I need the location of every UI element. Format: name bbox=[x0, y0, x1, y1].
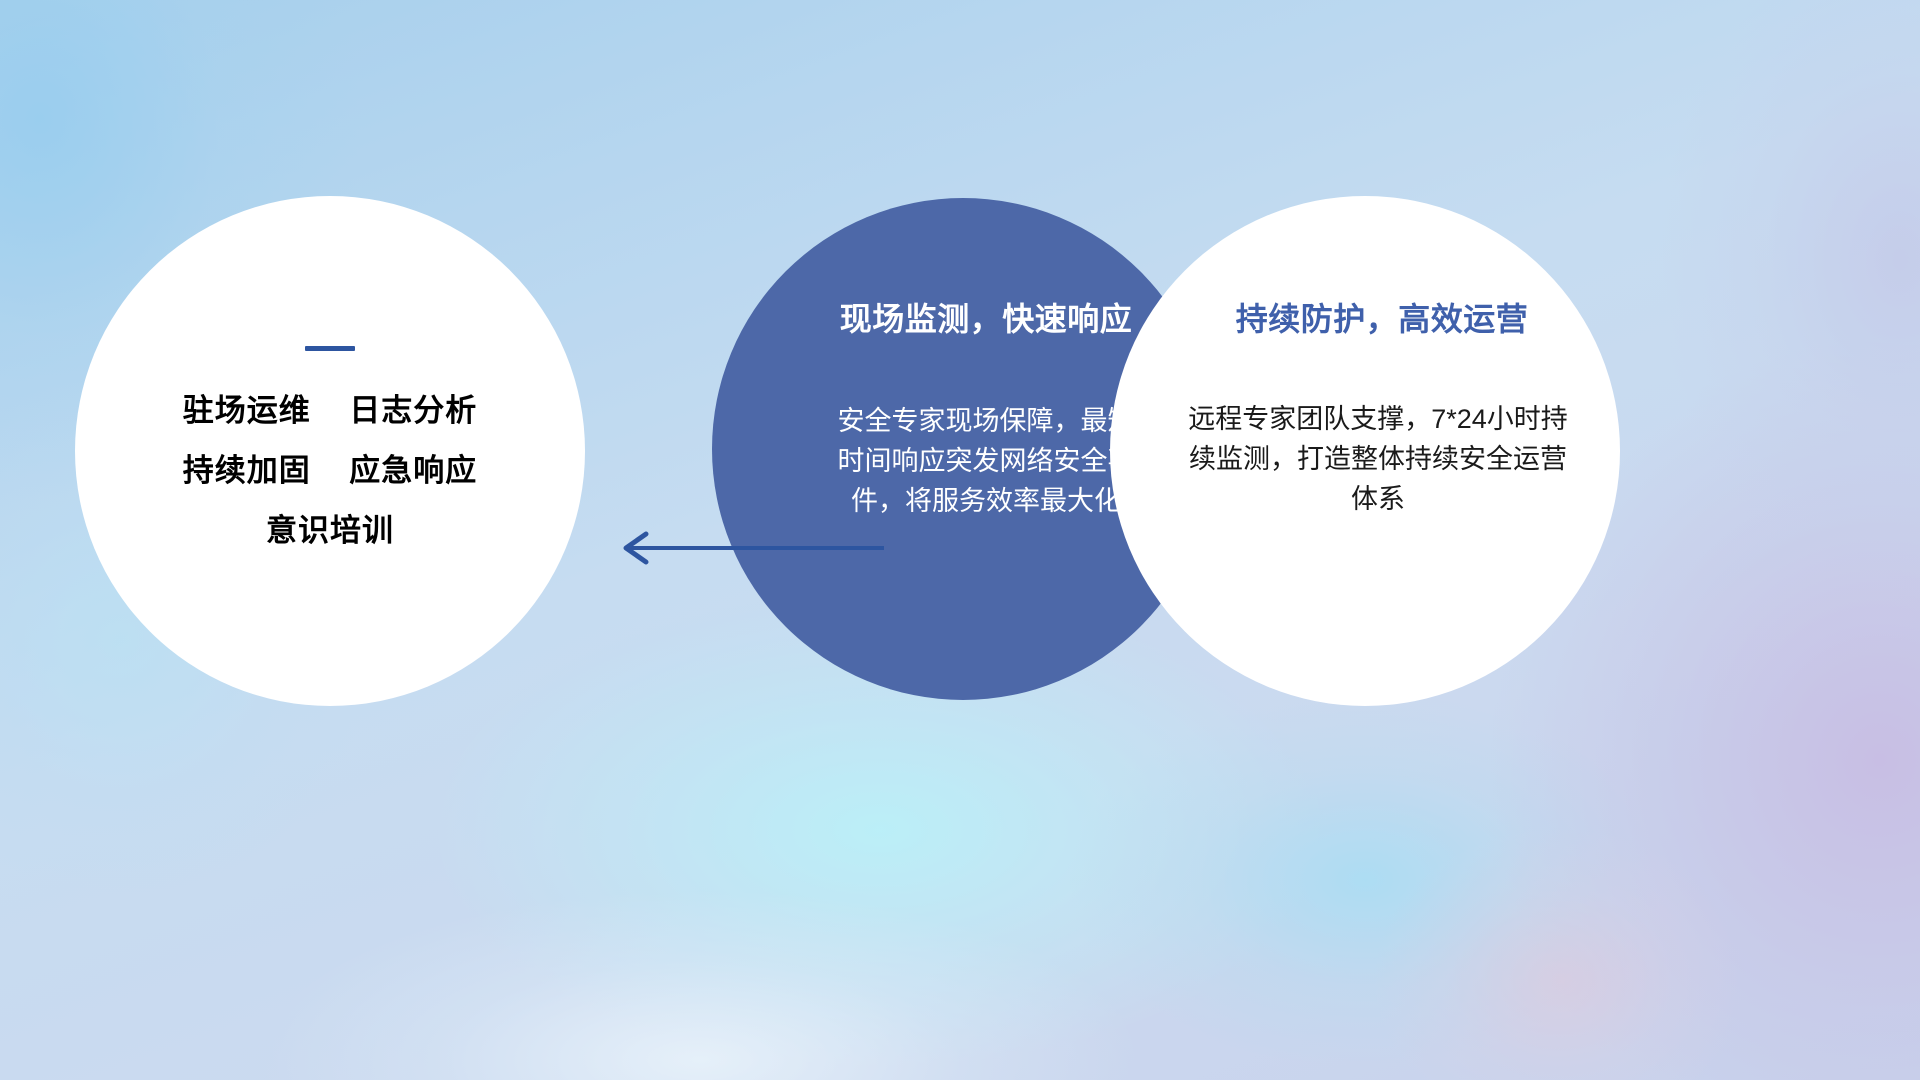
right-circle-body: 远程专家团队支撑，7*24小时持续监测，打造整体持续安全运营体系 bbox=[1178, 400, 1578, 520]
arrow-icon bbox=[612, 530, 884, 566]
slide-canvas: 驻场运维 日志分析 持续加固 应急响应 意识培训 现场监测，快速响应 安全专家现… bbox=[0, 0, 1920, 1080]
left-circle-line-1: 驻场运维 日志分析 bbox=[183, 395, 477, 426]
left-circle-line-2: 持续加固 应急响应 bbox=[183, 455, 477, 486]
left-circle-content: 驻场运维 日志分析 持续加固 应急响应 意识培训 bbox=[75, 196, 585, 706]
middle-circle-body: 安全专家现场保障，最短时间响应突发网络安全事件，将服务效率最大化 bbox=[831, 402, 1141, 522]
middle-circle-title: 现场监测，快速响应 bbox=[840, 294, 1133, 340]
right-circle-content: 持续防护，高效运营 远程专家团队支撑，7*24小时持续监测，打造整体持续安全运营… bbox=[1110, 196, 1620, 706]
right-circle-title: 持续防护，高效运营 bbox=[1236, 294, 1529, 340]
left-circle-line-3: 意识培训 bbox=[266, 515, 394, 546]
divider-dash bbox=[305, 346, 355, 351]
arrow-pointing-left bbox=[612, 530, 884, 566]
